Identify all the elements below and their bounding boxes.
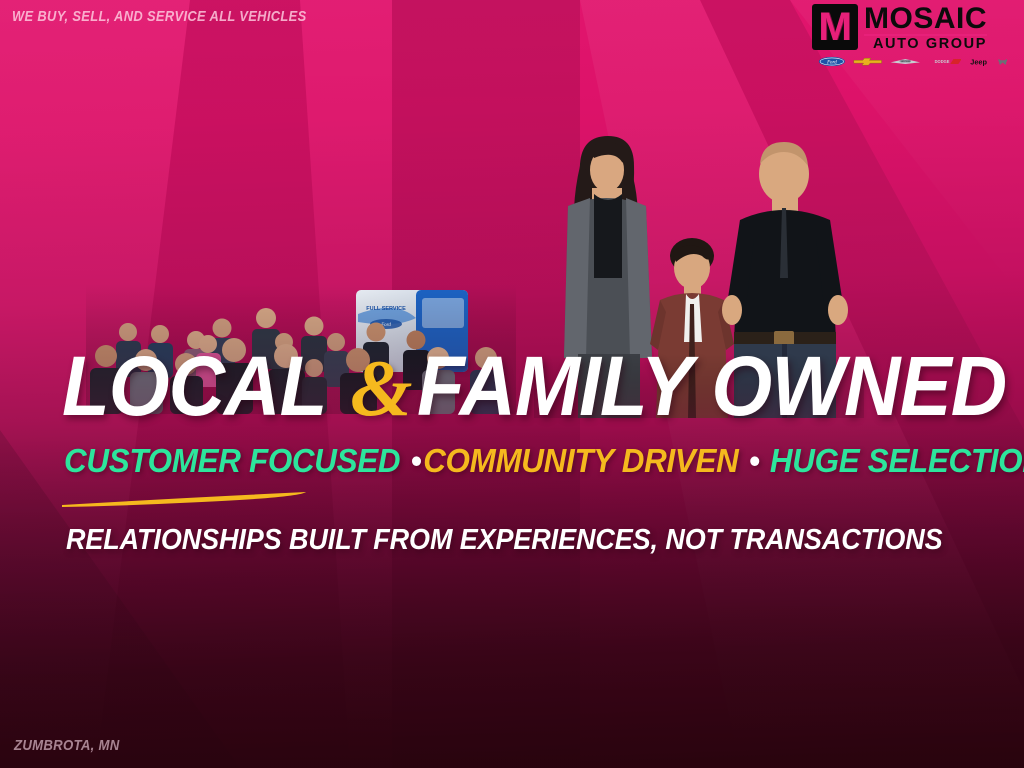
chevrolet-bowtie-icon: [853, 56, 882, 67]
svg-text:DODGE: DODGE: [934, 59, 949, 64]
subhead-item-customer-focused: CUSTOMER FOCUSED: [64, 442, 400, 479]
logo-mark-letter: M: [818, 7, 851, 47]
location-label: ZUMBROTA, MN: [14, 737, 120, 754]
brand-badge-row: Ford CHRYSLER DODGE Jeep: [812, 56, 1008, 67]
subhead-separator-2: •: [747, 442, 762, 479]
main-headline: LOCAL&FAMILY OWNED: [62, 344, 972, 420]
advertisement-banner: WE BUY, SELL, AND SERVICE ALL VEHICLES M…: [0, 0, 1024, 768]
mosaic-auto-group-logo[interactable]: M MOSAIC AUTO GROUP Ford CHRYSLER: [812, 4, 1008, 74]
headline-part-1: LOCAL: [62, 348, 326, 424]
subhead-item-community-driven: COMMUNITY DRIVEN: [423, 442, 738, 479]
banner-top-tagline: WE BUY, SELL, AND SERVICE ALL VEHICLES: [12, 8, 307, 25]
logo-subtitle: AUTO GROUP: [864, 37, 987, 52]
subhead-item-huge-selection: HUGE SELECTION: [770, 442, 1024, 479]
jeep-wordmark-icon: Jeep: [968, 56, 989, 67]
mosaic-m-mark-icon: M: [812, 4, 858, 50]
chrysler-wings-icon: CHRYSLER: [889, 56, 922, 67]
svg-text:CHRYSLER: CHRYSLER: [900, 61, 912, 63]
subhead-features: CUSTOMER FOCUSED •COMMUNITY DRIVEN • HUG…: [64, 444, 948, 478]
subhead-separator-1: •: [409, 442, 424, 479]
headline-part-2: FAMILY OWNED: [417, 348, 1006, 424]
svg-text:Ford: Ford: [826, 61, 837, 66]
headline-ampersand: &: [346, 345, 416, 433]
svg-text:Jeep: Jeep: [971, 57, 988, 66]
gold-divider-stroke: [60, 489, 310, 509]
brand-tagline: RELATIONSHIPS BUILT FROM EXPERIENCES, NO…: [66, 524, 943, 556]
ram-head-icon: [997, 56, 1008, 67]
ford-badge-icon: Ford: [818, 56, 846, 67]
logo-wordmark: MOSAIC: [864, 5, 987, 33]
dodge-stripes-icon: DODGE: [929, 56, 962, 67]
